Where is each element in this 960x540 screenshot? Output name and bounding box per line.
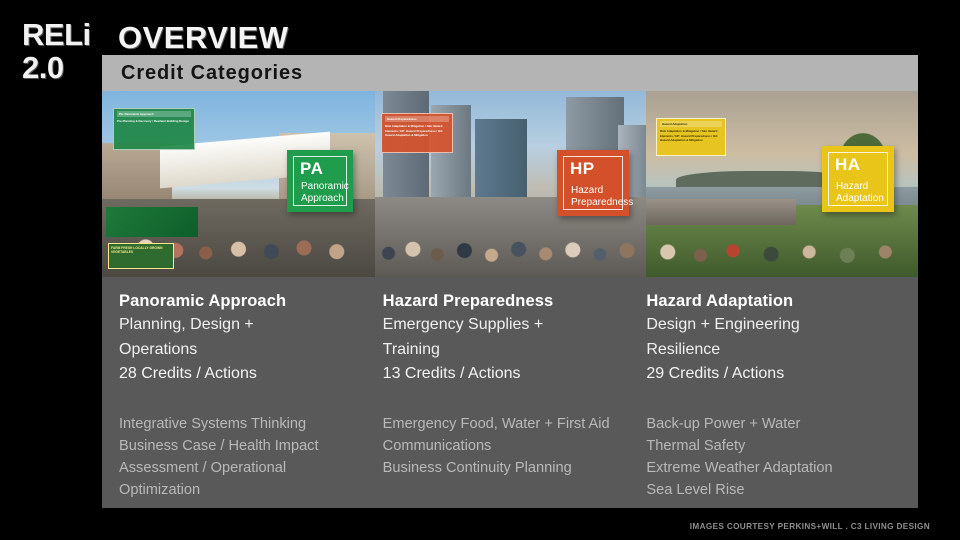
category-credits: 13 Credits / Actions bbox=[383, 362, 629, 386]
sign-abbreviation: HP bbox=[570, 159, 595, 179]
logo-line-2: 2.0 bbox=[22, 53, 112, 83]
sign-name: Panoramic Approach bbox=[301, 181, 345, 205]
info-card-title: Hazard Preparedness bbox=[385, 116, 449, 122]
image-credit: IMAGES COURTESY PERKINS+WILL . C3 LIVING… bbox=[690, 522, 930, 531]
sign-name: Hazard Adaptation bbox=[836, 181, 886, 205]
info-card-title: Hazard Adaptation bbox=[660, 121, 722, 127]
sign-panoramic-approach: PA Panoramic Approach bbox=[287, 150, 353, 212]
category-lead: Planning, Design + Operations bbox=[119, 313, 365, 362]
category-column-hazard-adaptation: Hazard Adaptation Design + Engineering R… bbox=[646, 291, 910, 501]
category-lead: Emergency Supplies + Training bbox=[383, 313, 629, 362]
category-credits: 29 Credits / Actions bbox=[646, 362, 892, 386]
list-item: Back-up Power + Water bbox=[646, 413, 892, 435]
list-item: Extreme Weather Adaptation bbox=[646, 457, 892, 479]
slide-root: RELi 2.0 OVERVIEW Credit Categories FARM… bbox=[0, 0, 960, 540]
info-card-hazard-adaptation: Hazard Adaptation Risk Adaptation & Miti… bbox=[656, 118, 726, 156]
sign-hazard-adaptation: HA Hazard Adaptation bbox=[822, 146, 894, 212]
credit-categories-panel: Panoramic Approach Planning, Design + Op… bbox=[102, 277, 918, 508]
info-card-lines: Risk Adaptation & Mitigation / Site Haza… bbox=[660, 129, 722, 142]
market-banner: FARM FRESH LOCALLY GROWN VEGETABLES bbox=[108, 243, 174, 269]
city-tower bbox=[475, 119, 527, 203]
sign-name: Hazard Preparedness bbox=[571, 185, 621, 209]
category-items: Integrative Systems Thinking Business Ca… bbox=[119, 413, 365, 502]
category-credits: 28 Credits / Actions bbox=[119, 362, 365, 386]
info-card-hazard-preparedness: Hazard Preparedness Risk Adaptation & Mi… bbox=[381, 113, 453, 153]
image-strip: FARM FRESH LOCALLY GROWN VEGETABLES bbox=[102, 91, 918, 277]
info-card-title: PA: Panoramic Approach bbox=[117, 111, 191, 117]
list-item: Integrative Systems Thinking bbox=[119, 413, 365, 435]
list-item: Sea Level Rise bbox=[646, 479, 892, 501]
category-column-panoramic-approach: Panoramic Approach Planning, Design + Op… bbox=[119, 291, 383, 501]
subtitle-label: Credit Categories bbox=[121, 62, 303, 85]
category-columns: Panoramic Approach Planning, Design + Op… bbox=[119, 291, 910, 501]
category-heading: Hazard Adaptation bbox=[646, 291, 892, 312]
list-item: Emergency Food, Water + First Aid bbox=[383, 413, 629, 435]
sign-abbreviation: PA bbox=[300, 159, 323, 179]
category-heading: Hazard Preparedness bbox=[383, 291, 629, 312]
category-heading: Panoramic Approach bbox=[119, 291, 365, 312]
category-lead: Design + Engineering Resilience bbox=[646, 313, 892, 362]
list-item: Business Case / Health Impact Assessment… bbox=[119, 435, 365, 502]
category-column-hazard-preparedness: Hazard Preparedness Emergency Supplies +… bbox=[383, 291, 647, 501]
park-visitors bbox=[646, 215, 918, 271]
category-items: Back-up Power + Water Thermal Safety Ext… bbox=[646, 413, 892, 502]
category-items: Emergency Food, Water + First Aid Commun… bbox=[383, 413, 629, 480]
info-card-lines: Risk Adaptation & Mitigation / Site Haza… bbox=[385, 124, 449, 137]
list-item: Business Continuity Planning bbox=[383, 457, 629, 479]
subtitle-bar: Credit Categories bbox=[102, 55, 918, 91]
sign-hazard-preparedness: HP Hazard Preparedness bbox=[557, 150, 629, 216]
crowd-figures bbox=[375, 207, 646, 273]
list-item: Communications bbox=[383, 435, 629, 457]
sign-abbreviation: HA bbox=[835, 155, 861, 175]
list-item: Thermal Safety bbox=[646, 435, 892, 457]
info-card-lines: Pre-Planning & Recovery / Resilient Buil… bbox=[117, 119, 191, 123]
page-title: OVERVIEW bbox=[118, 20, 289, 56]
reli-logo: RELi 2.0 bbox=[22, 20, 112, 84]
info-card-panoramic-approach: PA: Panoramic Approach Pre-Planning & Re… bbox=[113, 108, 195, 150]
logo-line-1: RELi bbox=[22, 20, 112, 50]
